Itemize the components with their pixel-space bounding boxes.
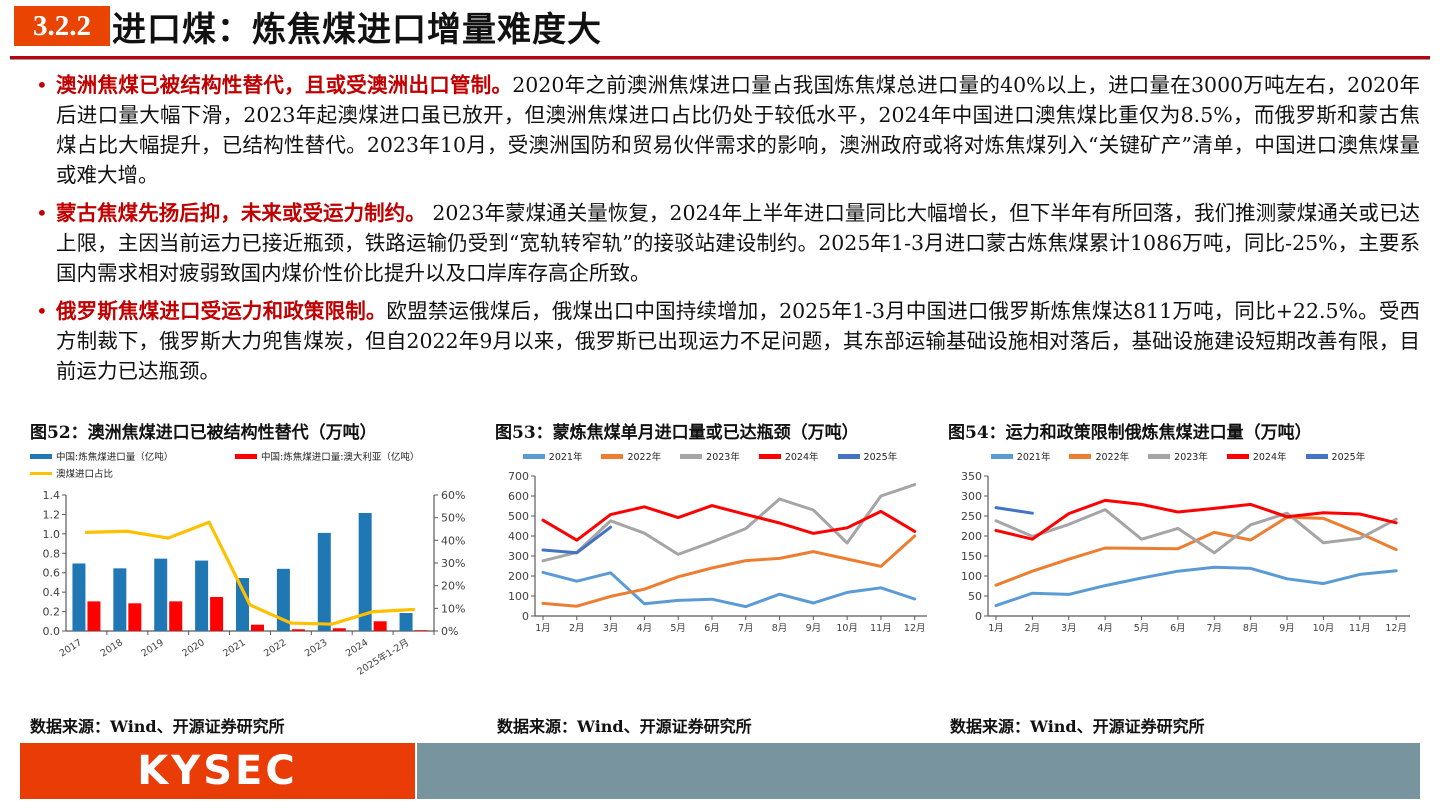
legend-label: 2021年 [549, 449, 583, 463]
legend-swatch-icon [30, 454, 52, 459]
svg-text:0.0: 0.0 [43, 625, 61, 638]
svg-text:9月: 9月 [806, 623, 822, 634]
svg-text:0.4: 0.4 [43, 586, 61, 599]
svg-text:8月: 8月 [1243, 623, 1259, 634]
svg-text:0: 0 [975, 610, 982, 623]
legend-swatch-icon [1069, 454, 1091, 459]
legend-swatch-icon [235, 454, 257, 459]
legend-item: 中国:炼焦煤进口量:澳大利亚（亿吨） [235, 449, 419, 463]
svg-text:20%: 20% [441, 580, 465, 593]
bullet-lead: 澳洲焦煤已被结构性替代，且或受澳洲出口管制。 [56, 73, 512, 97]
bullet-dot: • [36, 70, 48, 100]
svg-text:10%: 10% [441, 602, 465, 615]
legend-swatch-icon [991, 454, 1013, 459]
svg-text:2019: 2019 [139, 637, 165, 659]
legend-swatch-icon [680, 454, 702, 459]
svg-text:2022: 2022 [262, 637, 288, 659]
svg-text:1.0: 1.0 [43, 528, 61, 541]
svg-text:1月: 1月 [988, 623, 1004, 634]
chart-54-plot: 0501001502002503003501月2月3月4月5月6月7月8月9月1… [948, 466, 1418, 661]
bullet-item: • 俄罗斯焦煤进口受运力和政策限制。欧盟禁运俄煤后，俄煤出口中国持续增加，202… [30, 296, 1420, 386]
svg-text:350: 350 [961, 470, 982, 483]
footer-bar [417, 743, 1420, 799]
svg-text:6月: 6月 [704, 623, 720, 634]
svg-text:11月: 11月 [870, 623, 892, 634]
chart-53-plot: 01002003004005006007001月2月3月4月5月6月7月8月9月… [495, 466, 935, 661]
svg-text:11月: 11月 [1349, 623, 1371, 634]
section-number-badge: 3.2.2 [14, 6, 110, 46]
legend-label: 2022年 [1095, 449, 1129, 463]
svg-text:4月: 4月 [1097, 623, 1113, 634]
chart-panel-54: 图54：运力和政策限制俄炼焦煤进口量（万吨） 2021年 2022年 2023年… [948, 418, 1418, 661]
legend-item: 2025年 [1306, 449, 1366, 463]
svg-text:6月: 6月 [1170, 623, 1186, 634]
legend-swatch-icon [601, 454, 623, 459]
legend-label: 2024年 [785, 449, 819, 463]
bullet-dot: • [36, 296, 48, 326]
svg-text:0.6: 0.6 [43, 567, 61, 580]
legend-item: 2023年 [680, 449, 740, 463]
svg-text:3月: 3月 [603, 623, 619, 634]
svg-text:10月: 10月 [836, 623, 858, 634]
legend-label: 2022年 [627, 449, 661, 463]
svg-text:5月: 5月 [670, 623, 686, 634]
chart-panel-52: 图52：澳洲焦煤进口已被结构性替代（万吨） 中国:炼焦煤进口量（亿吨） 中国:炼… [30, 418, 480, 678]
legend-label: 2023年 [1174, 449, 1208, 463]
svg-text:40%: 40% [441, 534, 465, 547]
svg-text:2021: 2021 [221, 637, 247, 659]
chart-54-svg: 0501001502002503003501月2月3月4月5月6月7月8月9月1… [948, 466, 1418, 661]
svg-text:250: 250 [961, 510, 982, 523]
legend-swatch-icon [30, 472, 52, 475]
chart-52-plot: 0.00.20.40.60.81.01.21.40%10%20%30%40%50… [30, 483, 480, 678]
svg-text:100: 100 [508, 590, 529, 603]
legend-swatch-icon [838, 454, 860, 459]
svg-text:2月: 2月 [569, 623, 585, 634]
chart-52-title: 图52：澳洲焦煤进口已被结构性替代（万吨） [30, 418, 480, 443]
svg-text:50: 50 [968, 590, 982, 603]
chart-53-title: 图53：蒙炼焦煤单月进口量或已达瓶颈（万吨） [495, 418, 935, 443]
page-header: 3.2.2 进口煤：炼焦煤进口增量难度大 [0, 0, 1440, 62]
svg-text:300: 300 [508, 550, 529, 563]
svg-text:2024: 2024 [344, 637, 370, 659]
legend-item: 2021年 [991, 449, 1051, 463]
svg-text:2020: 2020 [180, 637, 206, 659]
chart-52-svg: 0.00.20.40.60.81.01.21.40%10%20%30%40%50… [30, 483, 480, 678]
svg-text:1.4: 1.4 [43, 489, 61, 502]
legend-label: 2021年 [1017, 449, 1051, 463]
svg-text:0.8: 0.8 [43, 547, 61, 560]
legend-label: 2025年 [864, 449, 898, 463]
svg-text:100: 100 [961, 570, 982, 583]
bullet-list: • 澳洲焦煤已被结构性替代，且或受澳洲出口管制。2020年之前澳洲焦煤进口量占我… [30, 70, 1420, 394]
svg-text:400: 400 [508, 530, 529, 543]
legend-swatch-icon [1227, 454, 1249, 459]
svg-text:700: 700 [508, 470, 529, 483]
svg-text:9月: 9月 [1279, 623, 1295, 634]
page-title: 进口煤：炼焦煤进口增量难度大 [112, 2, 602, 51]
svg-text:150: 150 [961, 550, 982, 563]
legend-item: 澳煤进口占比 [30, 466, 470, 480]
svg-text:200: 200 [961, 530, 982, 543]
svg-text:5月: 5月 [1134, 623, 1150, 634]
bullet-lead: 蒙古焦煤先扬后抑，未来或受运力制约。 [56, 201, 426, 225]
svg-text:12月: 12月 [1385, 623, 1407, 634]
svg-text:50%: 50% [441, 512, 465, 525]
svg-text:200: 200 [508, 570, 529, 583]
bullet-dot: • [36, 198, 48, 228]
bullet-lead: 俄罗斯焦煤进口受运力和政策限制。 [56, 299, 387, 323]
bullet-item: • 澳洲焦煤已被结构性替代，且或受澳洲出口管制。2020年之前澳洲焦煤进口量占我… [30, 70, 1420, 190]
legend-label: 2023年 [706, 449, 740, 463]
legend-swatch-icon [1306, 454, 1328, 459]
chart-panel-53: 图53：蒙炼焦煤单月进口量或已达瓶颈（万吨） 2021年 2022年 2023年… [495, 418, 935, 661]
svg-text:4月: 4月 [637, 623, 653, 634]
legend-item: 2022年 [1069, 449, 1129, 463]
legend-item: 2022年 [601, 449, 661, 463]
svg-text:2023: 2023 [303, 637, 329, 659]
svg-text:0.2: 0.2 [43, 606, 61, 619]
svg-text:1.2: 1.2 [43, 508, 61, 521]
legend-swatch-icon [1148, 454, 1170, 459]
svg-text:1月: 1月 [535, 623, 551, 634]
header-divider-secondary [10, 59, 1430, 60]
legend-swatch-icon [523, 454, 545, 459]
svg-text:2月: 2月 [1025, 623, 1041, 634]
svg-text:0%: 0% [441, 625, 458, 638]
chart-54-title: 图54：运力和政策限制俄炼焦煤进口量（万吨） [948, 418, 1418, 443]
legend-label: 澳煤进口占比 [56, 466, 113, 480]
svg-text:7月: 7月 [1207, 623, 1223, 634]
svg-text:12月: 12月 [904, 623, 926, 634]
legend-item: 2023年 [1148, 449, 1208, 463]
kysec-logo-text: KYSEC [20, 743, 415, 799]
bullet-item: • 蒙古焦煤先扬后抑，未来或受运力制约。 2023年蒙煤通关量恢复，2024年上… [30, 198, 1420, 288]
legend-item: 2024年 [1227, 449, 1287, 463]
svg-text:7月: 7月 [738, 623, 754, 634]
svg-text:60%: 60% [441, 489, 465, 502]
chart-54-legend: 2021年 2022年 2023年 2024年 2025年 [948, 449, 1418, 466]
svg-text:500: 500 [508, 510, 529, 523]
chart-53-svg: 01002003004005006007001月2月3月4月5月6月7月8月9月… [495, 466, 935, 661]
svg-text:30%: 30% [441, 557, 465, 570]
legend-item: 2021年 [523, 449, 583, 463]
svg-text:3月: 3月 [1061, 623, 1077, 634]
legend-label: 2024年 [1253, 449, 1287, 463]
legend-item: 2024年 [759, 449, 819, 463]
legend-swatch-icon [759, 454, 781, 459]
chart-53-legend: 2021年 2022年 2023年 2024年 2025年 [495, 449, 935, 466]
chart-54-source: 数据来源：Wind、开源证券研究所 [950, 713, 1205, 737]
svg-text:300: 300 [961, 490, 982, 503]
legend-label: 2025年 [1332, 449, 1366, 463]
svg-text:10月: 10月 [1313, 623, 1335, 634]
legend-label: 中国:炼焦煤进口量（亿吨） [56, 449, 173, 463]
svg-text:600: 600 [508, 490, 529, 503]
svg-text:2018: 2018 [99, 637, 125, 659]
kysec-logo: KYSEC [20, 743, 415, 799]
legend-label: 中国:炼焦煤进口量:澳大利亚（亿吨） [261, 449, 419, 463]
legend-item: 2025年 [838, 449, 898, 463]
chart-52-legend: 中国:炼焦煤进口量（亿吨） 中国:炼焦煤进口量:澳大利亚（亿吨） 澳煤进口占比 [30, 449, 480, 483]
chart-53-source: 数据来源：Wind、开源证券研究所 [497, 713, 752, 737]
svg-text:8月: 8月 [772, 623, 788, 634]
svg-text:0: 0 [522, 610, 529, 623]
legend-item: 中国:炼焦煤进口量（亿吨） [30, 449, 225, 463]
chart-52-source: 数据来源：Wind、开源证券研究所 [30, 713, 285, 737]
svg-text:2017: 2017 [58, 637, 84, 659]
